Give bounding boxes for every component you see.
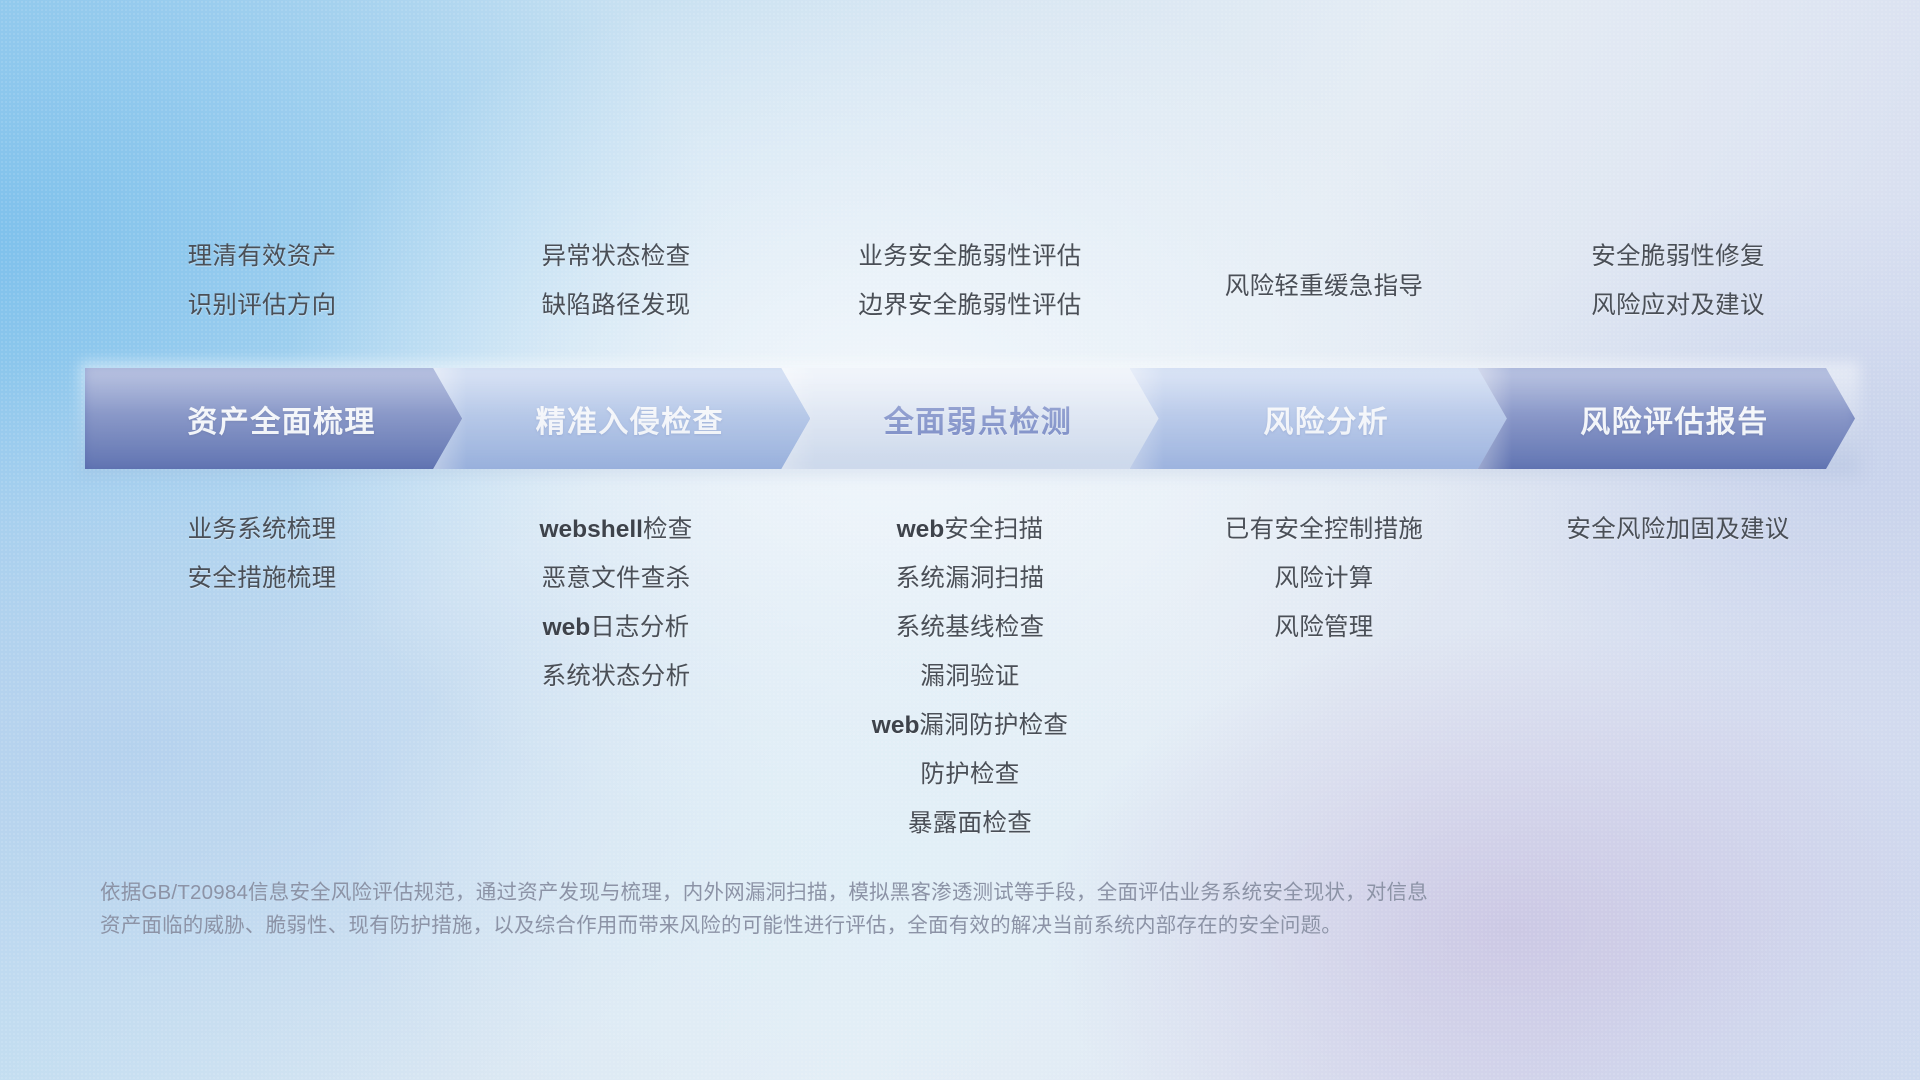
- activity-column-5: 安全风险加固及建议: [1501, 505, 1855, 805]
- footer-description: 依据GB/T20984信息安全风险评估规范，通过资产发现与梳理，内外网漏洞扫描，…: [100, 876, 1740, 942]
- activity-label: 漏洞验证: [920, 652, 1019, 701]
- process-diagram: 理清有效资产 识别评估方向 异常状态检查 缺陷路径发现 业务安全脆弱性评估 边界…: [0, 0, 1920, 1080]
- outcome-column-2: 异常状态检查 缺陷路径发现: [439, 232, 793, 352]
- outcome-column-4: 风险轻重缓急指导: [1147, 232, 1501, 352]
- activity-label: 恶意文件查杀: [542, 554, 691, 603]
- activity-label-latin: webshell: [539, 516, 642, 543]
- outcome-label: 异常状态检查: [542, 232, 691, 281]
- outcome-label-row: 理清有效资产 识别评估方向 异常状态检查 缺陷路径发现 业务安全脆弱性评估 边界…: [85, 232, 1855, 352]
- activity-column-2: webshell检查恶意文件查杀web日志分析系统状态分析: [439, 505, 793, 805]
- activity-label: 业务系统梳理: [188, 505, 337, 554]
- activity-label: 安全措施梳理: [188, 554, 337, 603]
- activity-label: 风险计算: [1274, 554, 1373, 603]
- activity-label: 暴露面检查: [908, 799, 1032, 848]
- activity-label: web日志分析: [543, 603, 690, 652]
- activity-label: webshell检查: [539, 505, 692, 554]
- outcome-label: 风险应对及建议: [1591, 281, 1765, 330]
- outcome-label: 缺陷路径发现: [542, 281, 691, 330]
- outcome-label: 风险轻重缓急指导: [1225, 262, 1423, 311]
- outcome-label: 业务安全脆弱性评估: [858, 232, 1081, 281]
- activity-label: web安全扫描: [897, 505, 1044, 554]
- activity-label: 已有安全控制措施: [1225, 505, 1423, 554]
- activity-label-row: 业务系统梳理安全措施梳理 webshell检查恶意文件查杀web日志分析系统状态…: [85, 505, 1855, 805]
- activity-column-1: 业务系统梳理安全措施梳理: [85, 505, 439, 805]
- activity-label: 系统漏洞扫描: [896, 554, 1045, 603]
- outcome-label: 理清有效资产: [188, 232, 337, 281]
- activity-label: 系统基线检查: [896, 603, 1045, 652]
- outcome-column-3: 业务安全脆弱性评估 边界安全脆弱性评估: [793, 232, 1147, 352]
- outcome-label: 安全脆弱性修复: [1591, 232, 1765, 281]
- footer-line: 资产面临的威胁、脆弱性、现有防护措施，以及综合作用而带来风险的可能性进行评估，全…: [100, 909, 1740, 942]
- outcome-column-5: 安全脆弱性修复 风险应对及建议: [1501, 232, 1855, 352]
- activity-label-latin: web: [543, 614, 591, 641]
- activity-column-3: web安全扫描系统漏洞扫描系统基线检查漏洞验证web漏洞防护检查防护检查暴露面检…: [793, 505, 1147, 805]
- footer-line: 依据GB/T20984信息安全风险评估规范，通过资产发现与梳理，内外网漏洞扫描，…: [100, 876, 1740, 909]
- activity-label-latin: web: [872, 712, 920, 739]
- outcome-label: 识别评估方向: [188, 281, 337, 330]
- activity-label: 系统状态分析: [542, 652, 691, 701]
- chevron-band-glow: [80, 362, 1860, 475]
- activity-label: 防护检查: [920, 750, 1019, 799]
- outcome-label: 边界安全脆弱性评估: [858, 281, 1081, 330]
- outcome-column-1: 理清有效资产 识别评估方向: [85, 232, 439, 352]
- activity-label: web漏洞防护检查: [872, 701, 1068, 750]
- activity-column-4: 已有安全控制措施风险计算风险管理: [1147, 505, 1501, 805]
- activity-label-latin: web: [897, 516, 945, 543]
- activity-label: 安全风险加固及建议: [1566, 505, 1789, 554]
- activity-label: 风险管理: [1274, 603, 1373, 652]
